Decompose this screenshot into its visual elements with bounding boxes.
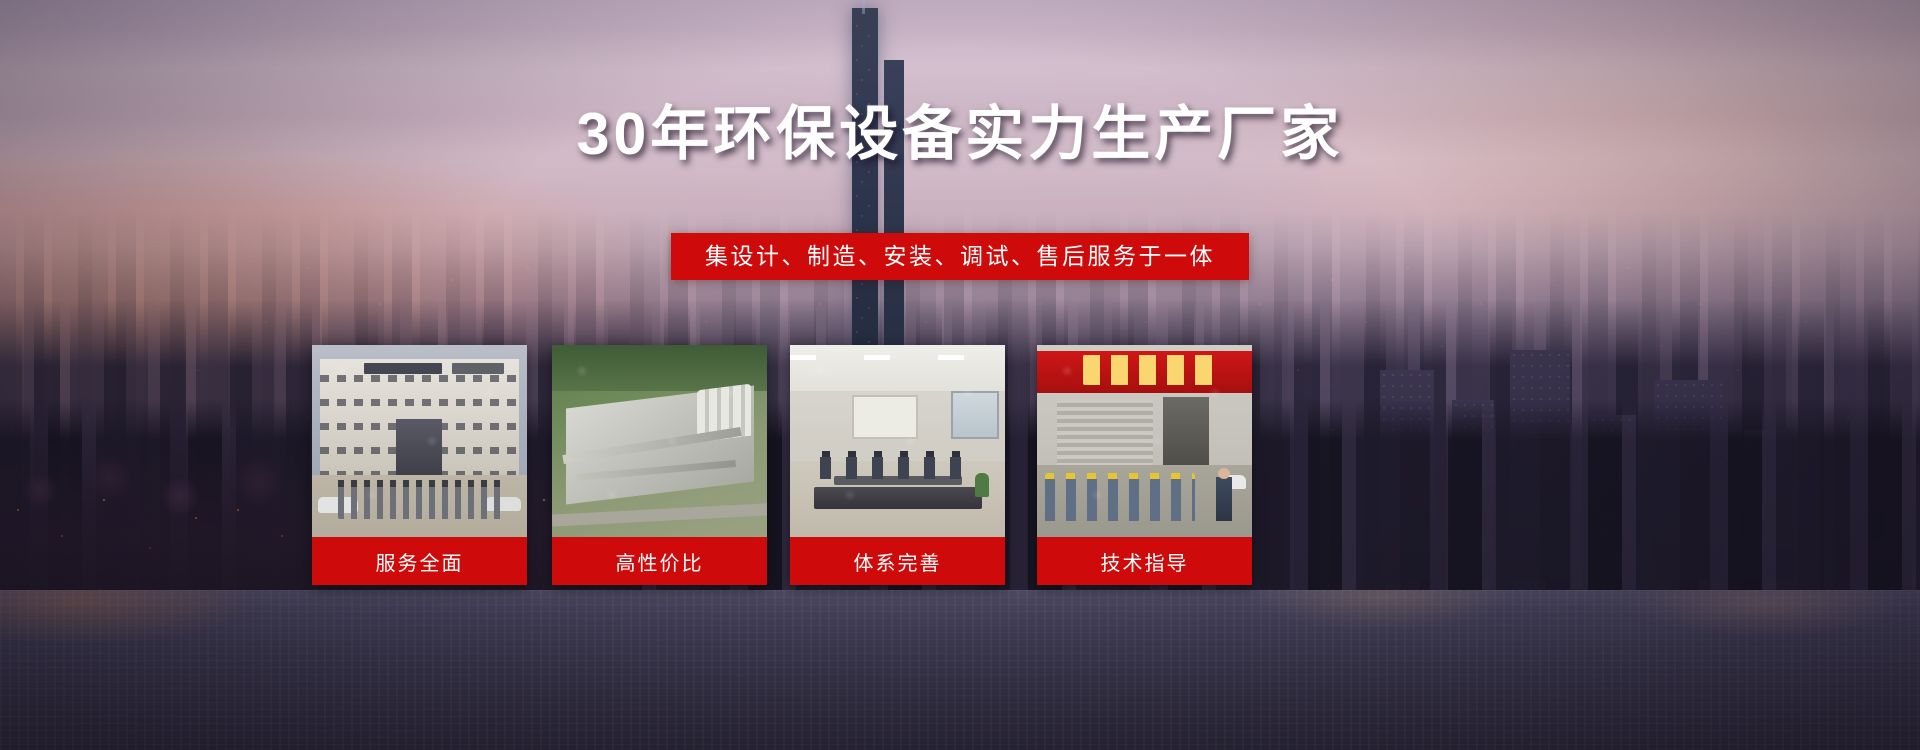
- feature-card-4-photo: [1037, 345, 1252, 537]
- photo2-tree-belt: [552, 345, 767, 391]
- photo3-ceiling-lights: [790, 355, 1005, 381]
- photo4-banner-lettering: [1083, 355, 1223, 385]
- photo1-phone-sign: [452, 363, 504, 374]
- photo4-instructor: [1216, 477, 1232, 521]
- feature-card-2[interactable]: 高性价比: [552, 345, 767, 585]
- feature-card-2-caption: 高性价比: [552, 537, 767, 585]
- photo3-potted-plant: [975, 473, 989, 497]
- photo1-staff-row: [338, 483, 502, 519]
- feature-card-1-caption: 服务全面: [312, 537, 527, 585]
- photo4-instructor-head: [1218, 468, 1230, 479]
- banner-subtitle-bar: 集设计、制造、安装、调试、售后服务于一体: [671, 233, 1249, 280]
- banner-content: 30年环保设备实力生产厂家 集设计、制造、安装、调试、售后服务于一体: [0, 0, 1920, 750]
- feature-card-3-caption: 体系完善: [790, 537, 1005, 585]
- feature-card-4[interactable]: 技术指导: [1037, 345, 1252, 585]
- photo1-entrance: [396, 419, 442, 477]
- photo4-worker-group: [1045, 479, 1195, 521]
- photo4-doorway: [1163, 397, 1209, 475]
- feature-card-list: 服务全面 高性价比: [312, 345, 1612, 590]
- feature-card-4-caption: 技术指导: [1037, 537, 1252, 585]
- feature-card-3[interactable]: 体系完善: [790, 345, 1005, 585]
- photo3-window: [951, 391, 999, 439]
- feature-card-2-photo: [552, 345, 767, 537]
- hero-banner: 30年环保设备实力生产厂家 集设计、制造、安装、调试、售后服务于一体: [0, 0, 1920, 750]
- photo4-roller-shutter: [1057, 399, 1153, 469]
- photo1-staff-heads: [338, 480, 502, 487]
- feature-card-1[interactable]: 服务全面: [312, 345, 527, 585]
- photo3-front-desk: [814, 487, 982, 509]
- feature-card-1-photo: [312, 345, 527, 537]
- photo3-wall-board: [852, 395, 918, 439]
- photo3-seated-staff: [820, 457, 976, 479]
- banner-headline: 30年环保设备实力生产厂家: [0, 104, 1920, 166]
- photo1-company-sign: [364, 363, 442, 374]
- banner-subtitle-text: 集设计、制造、安装、调试、售后服务于一体: [705, 242, 1215, 271]
- feature-card-3-photo: [790, 345, 1005, 537]
